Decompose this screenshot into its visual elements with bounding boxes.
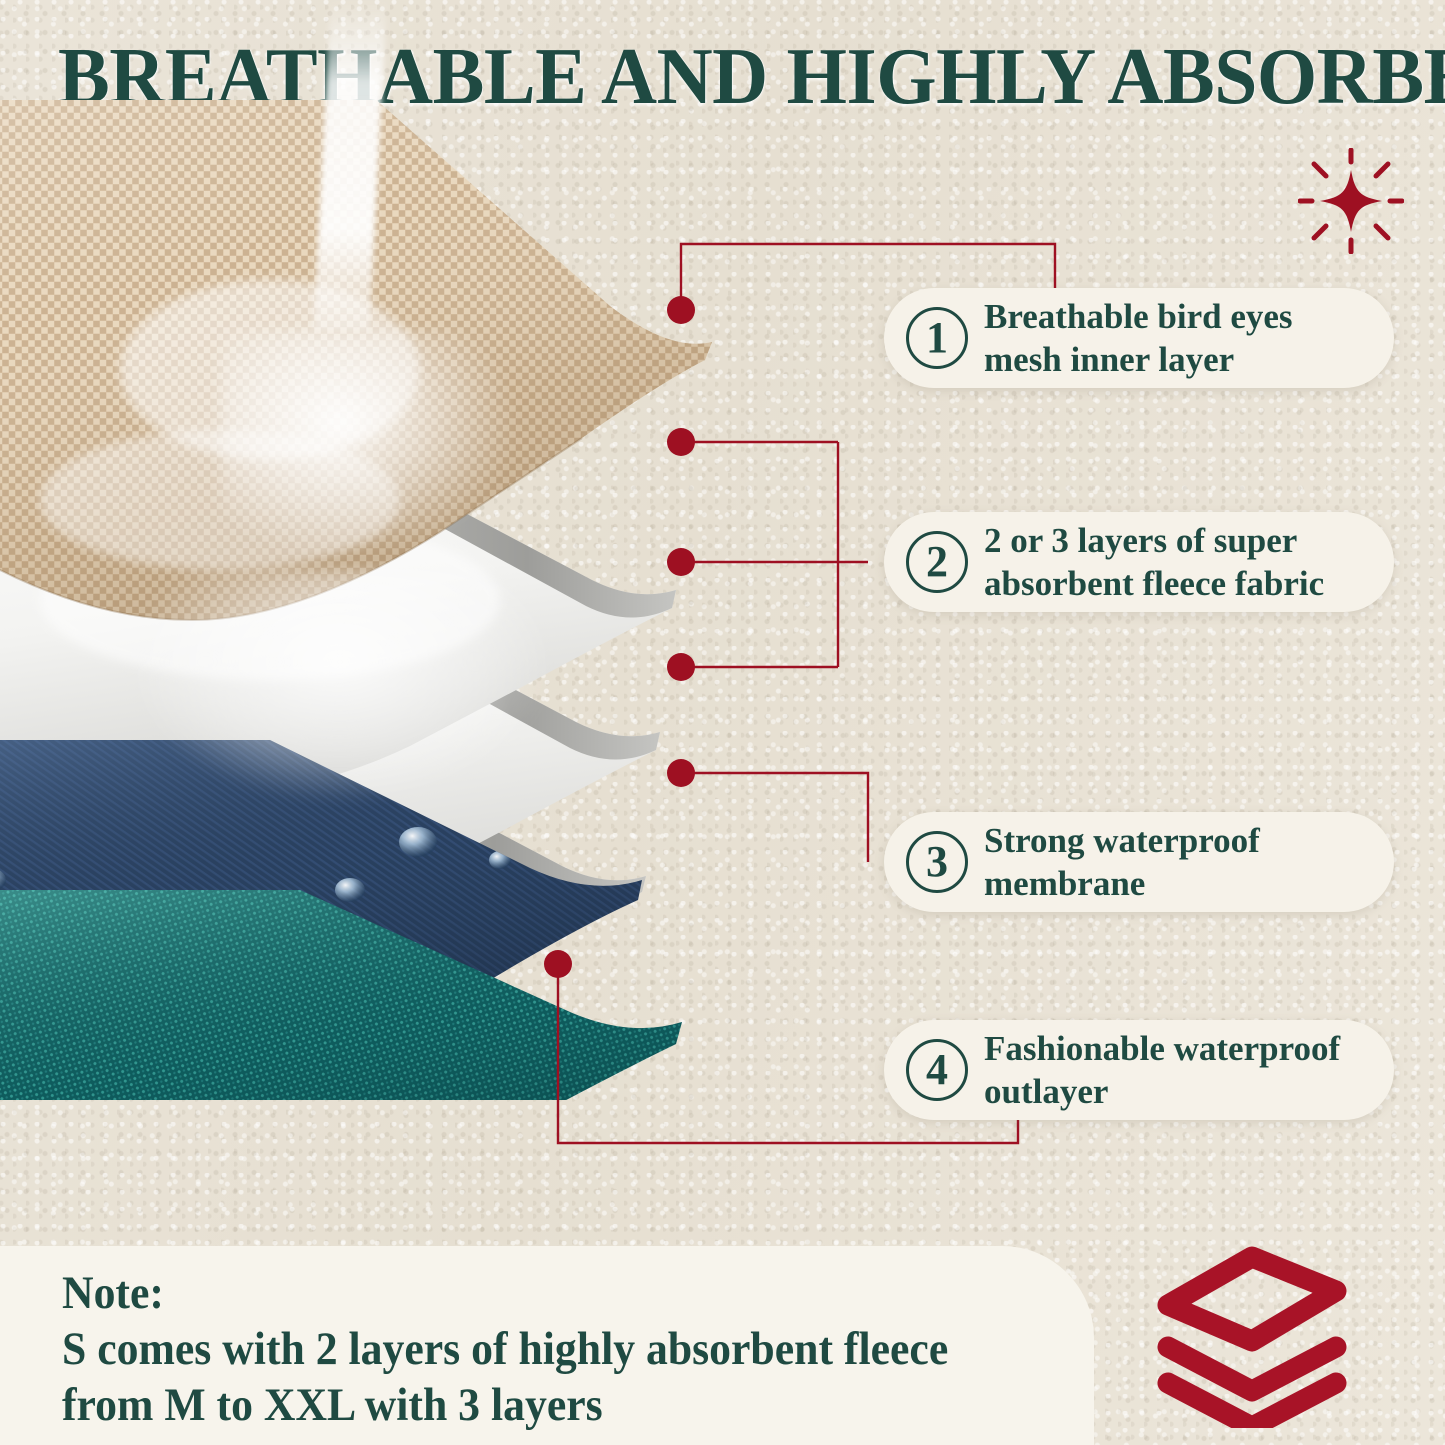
connector-dot-2a xyxy=(667,428,695,456)
callout-4-number: 4 xyxy=(906,1039,968,1101)
callout-1-text: Breathable bird eyes mesh inner layer xyxy=(984,295,1293,381)
connector-dot-2c xyxy=(667,653,695,681)
callout-4-text: Fashionable waterproof outlayer xyxy=(984,1027,1340,1113)
callout-2[interactable]: 2 2 or 3 layers of super absorbent fleec… xyxy=(884,512,1394,612)
note-label: Note: xyxy=(62,1266,164,1320)
infographic-canvas: BREATHABLE AND HIGHLY ABSORBENT xyxy=(0,0,1445,1445)
callout-3[interactable]: 3 Strong waterproof membrane xyxy=(884,812,1394,912)
layers-stack-icon xyxy=(1148,1243,1356,1428)
callout-connectors xyxy=(0,0,1445,1445)
callout-1[interactable]: 1 Breathable bird eyes mesh inner layer xyxy=(884,288,1394,388)
callout-4[interactable]: 4 Fashionable waterproof outlayer xyxy=(884,1020,1394,1120)
note-line-2: from M to XXL with 3 layers xyxy=(62,1378,603,1432)
callout-1-number: 1 xyxy=(906,307,968,369)
callout-2-number: 2 xyxy=(906,531,968,593)
connector-dot-4 xyxy=(544,950,572,978)
connector-dot-2b xyxy=(667,548,695,576)
callout-2-text: 2 or 3 layers of super absorbent fleece … xyxy=(984,519,1324,605)
callout-3-text: Strong waterproof membrane xyxy=(984,819,1260,905)
note-card: Note: S comes with 2 layers of highly ab… xyxy=(0,1246,1094,1445)
connector-dot-3 xyxy=(667,759,695,787)
note-line-1: S comes with 2 layers of highly absorben… xyxy=(62,1322,948,1376)
callout-3-number: 3 xyxy=(906,831,968,893)
connector-3 xyxy=(681,773,868,862)
connector-dot-1 xyxy=(667,296,695,324)
